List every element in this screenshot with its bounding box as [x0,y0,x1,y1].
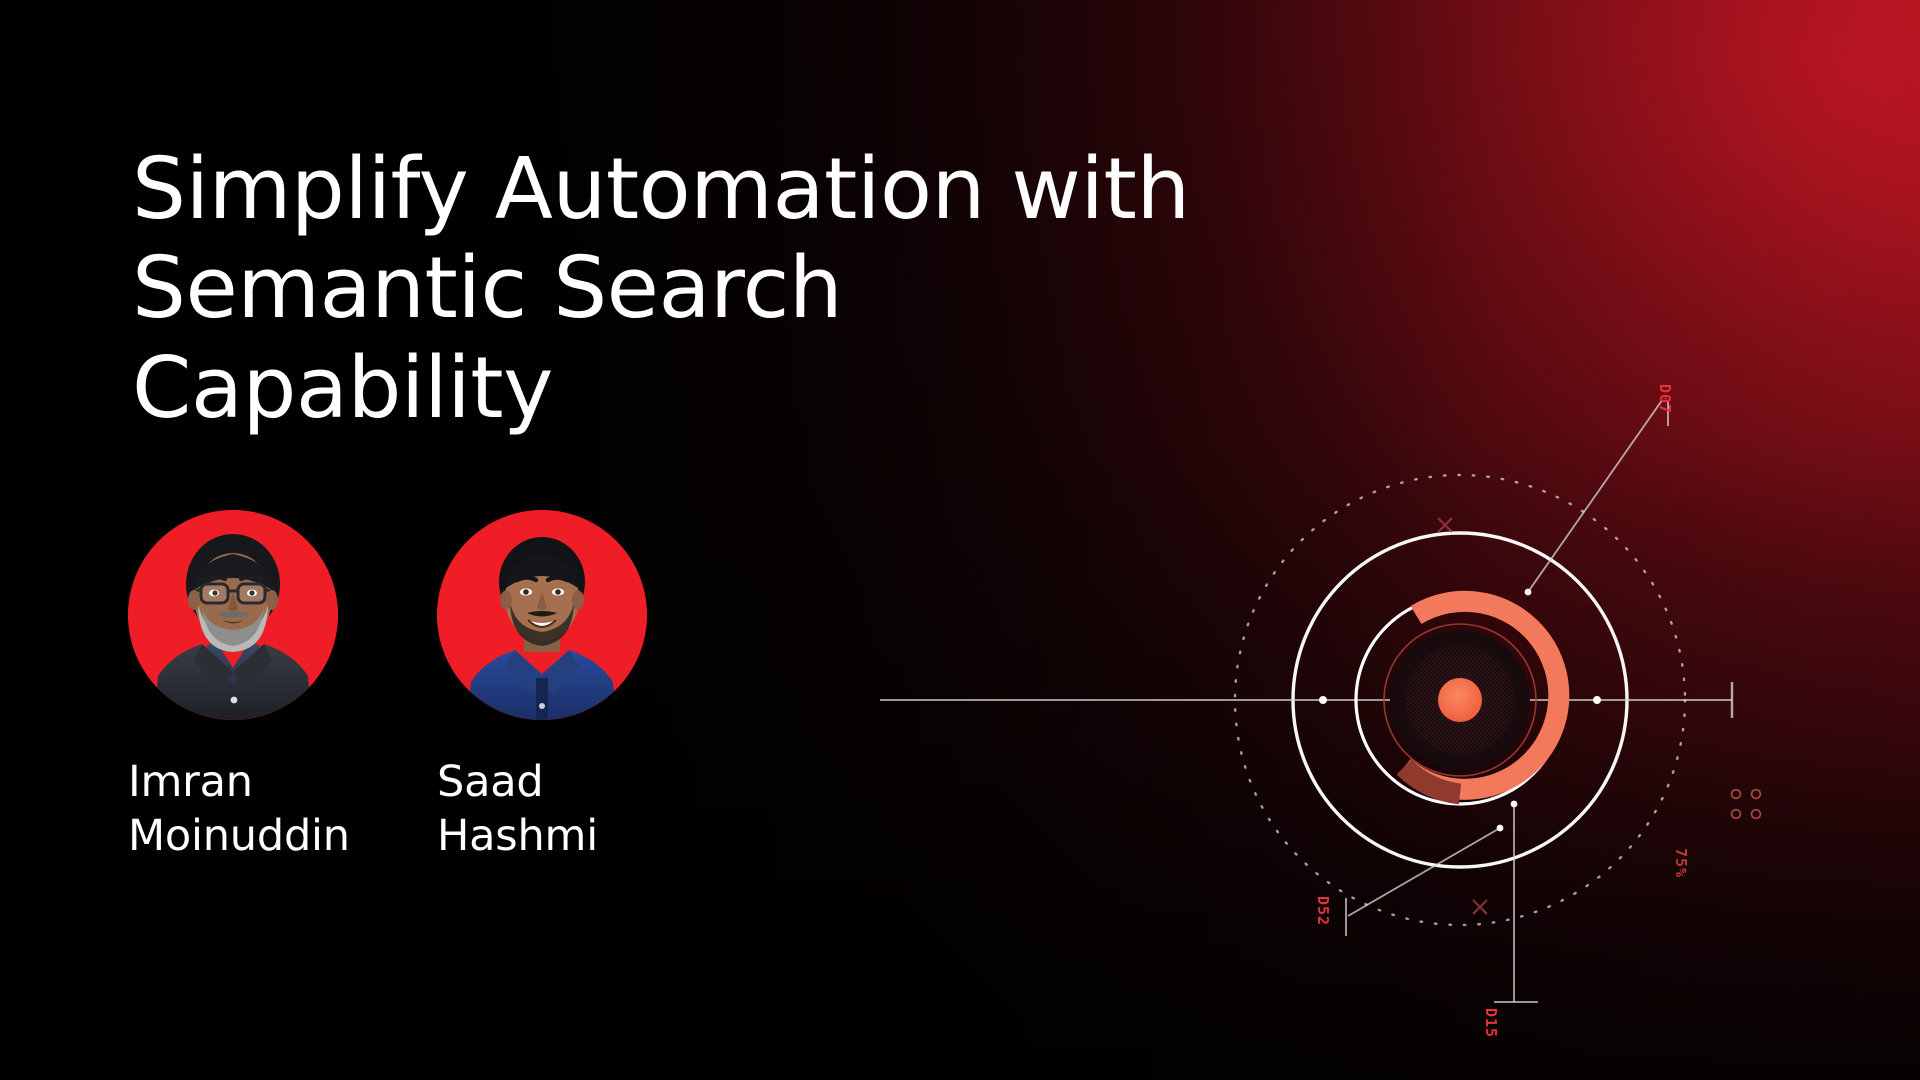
presentation-slide: Simplify Automation with Semantic Search… [0,0,1920,1080]
slide-title: Simplify Automation with Semantic Search… [132,140,1212,438]
speaker-list: Imran Moinuddin [128,510,702,864]
speaker-name: Imran Moinuddin [128,756,393,864]
speaker-name: Saad Hashmi [437,756,702,864]
avatar-saad-hashmi [437,510,647,720]
speaker-card: Saad Hashmi [437,510,702,864]
avatar-imran-moinuddin [128,510,338,720]
speaker-card: Imran Moinuddin [128,510,393,864]
